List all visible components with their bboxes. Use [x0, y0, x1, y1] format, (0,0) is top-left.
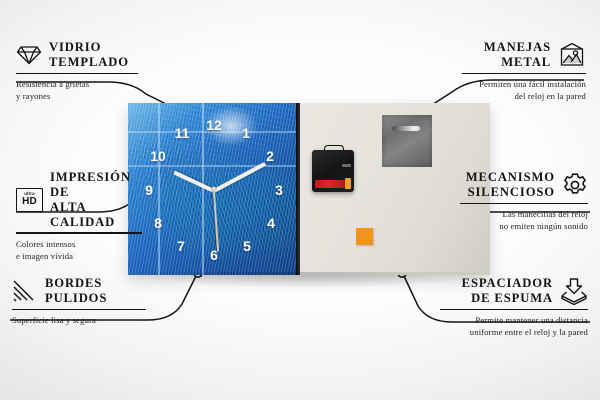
title-line-2: SILENCIOSO	[466, 185, 555, 200]
clock-number-7: 7	[177, 238, 185, 254]
title-line-2: DE ESPUMA	[462, 291, 553, 306]
feature-silent-mechanism: MECANISMO SILENCIOSO Las manecillas del …	[460, 170, 588, 232]
down-arrow-stack-icon	[560, 277, 588, 305]
feature-description: Resistencia a grietas y rayones	[16, 78, 138, 102]
desc-line-1: Resistencia a grietas	[16, 78, 138, 90]
feature-rule	[462, 73, 586, 75]
desc-line-2: uniforme entre el reloj y la pared	[440, 326, 588, 338]
feature-description: Permite mantener una distancia uniforme …	[440, 314, 588, 338]
gear-icon	[562, 172, 588, 198]
title-line-2: METAL	[484, 55, 551, 70]
feature-description: Colores intensos e imagen vívida	[16, 238, 142, 262]
feature-tempered-glass: VIDRIO TEMPLADO Resistencia a grietas y …	[16, 40, 138, 102]
desc-line-1: Las manecillas del reloj	[460, 208, 588, 220]
movement-label	[342, 164, 351, 167]
clock-front-face: 12 1 2 3 4 5 6 7 8 9 10 11	[128, 103, 300, 275]
feature-metal-handles: MANEJAS METAL Permiten una fácil instala…	[462, 40, 586, 102]
desc-line-1: Permite mantener una distancia	[440, 314, 588, 326]
clock-number-11: 11	[175, 125, 190, 141]
framed-picture-icon	[558, 42, 586, 68]
feature-header: ultra HD IMPRESIÓN DE ALTA CALIDAD	[16, 170, 142, 229]
feature-rule	[12, 309, 146, 311]
clock-number-9: 9	[145, 182, 153, 198]
feature-rule	[16, 73, 138, 75]
feature-hd-print: ultra HD IMPRESIÓN DE ALTA CALIDAD Color…	[16, 170, 142, 262]
feature-rule	[16, 232, 142, 234]
battery	[315, 180, 348, 188]
clock-number-4: 4	[267, 215, 275, 231]
diamond-icon	[16, 44, 42, 66]
feature-foam-spacer: ESPACIADOR DE ESPUMA Permite mantener un…	[440, 276, 588, 338]
desc-line-1: Superficie lisa y segura	[12, 314, 146, 326]
feature-rule	[460, 203, 588, 205]
desc-line-2: y rayones	[16, 90, 138, 102]
clock-center-hub	[212, 187, 217, 192]
feature-title: IMPRESIÓN DE ALTA CALIDAD	[50, 170, 142, 229]
feature-header: MECANISMO SILENCIOSO	[460, 170, 588, 200]
clock-number-1: 1	[242, 125, 250, 141]
grid-line-h2	[128, 165, 300, 167]
title-line-1: ESPACIADOR	[462, 276, 553, 291]
title-line-1: MECANISMO	[466, 170, 555, 185]
feature-title: MECANISMO SILENCIOSO	[466, 170, 555, 200]
grid-line-v1	[158, 103, 160, 275]
title-line-2: PULIDOS	[45, 291, 107, 306]
desc-line-2: del reloj en la pared	[462, 90, 586, 102]
desc-line-1: Colores intensos	[16, 238, 142, 250]
product-photo: 12 1 2 3 4 5 6 7 8 9 10 11	[128, 103, 490, 275]
feature-description: Superficie lisa y segura	[12, 314, 146, 326]
metal-hanger-plate-icon	[382, 115, 432, 167]
product-drop-shadow	[128, 272, 490, 288]
ultra-hd-badge-icon: ultra HD	[16, 188, 43, 212]
feature-polished-edges: BORDES PULIDOS Superficie lisa y segura	[12, 276, 146, 326]
feature-description: Permiten una fácil instalación del reloj…	[462, 78, 586, 102]
clock-number-2: 2	[266, 148, 274, 164]
desc-line-2: e imagen vívida	[16, 250, 142, 262]
infographic-canvas: 12 1 2 3 4 5 6 7 8 9 10 11	[0, 0, 600, 400]
feature-header: MANEJAS METAL	[462, 40, 586, 70]
clock-number-3: 3	[275, 182, 283, 198]
title-line-2: ALTA CALIDAD	[50, 200, 142, 230]
desc-line-1: Permiten una fácil instalación	[462, 78, 586, 90]
feature-title: VIDRIO TEMPLADO	[49, 40, 129, 70]
feature-rule	[440, 309, 588, 311]
title-line-1: VIDRIO	[49, 40, 129, 55]
feature-header: BORDES PULIDOS	[12, 276, 146, 306]
badge-big-label: HD	[22, 197, 37, 207]
feature-title: ESPACIADOR DE ESPUMA	[462, 276, 553, 306]
hanger-slot	[392, 126, 420, 131]
foam-spacer-pad	[356, 228, 373, 245]
feature-header: ESPACIADOR DE ESPUMA	[440, 276, 588, 306]
clock-number-12: 12	[206, 117, 222, 133]
feature-title: MANEJAS METAL	[484, 40, 551, 70]
clock-number-10: 10	[150, 148, 166, 164]
feature-header: VIDRIO TEMPLADO	[16, 40, 138, 70]
quartz-movement-box	[312, 150, 354, 192]
feature-title: BORDES PULIDOS	[45, 276, 107, 306]
title-line-1: IMPRESIÓN DE	[50, 170, 142, 200]
clock-number-5: 5	[243, 238, 251, 254]
diagonal-lines-icon	[12, 279, 38, 303]
movement-shaft	[324, 145, 344, 153]
desc-line-2: no emiten ningún sonido	[460, 220, 588, 232]
feature-description: Las manecillas del reloj no emiten ningú…	[460, 208, 588, 232]
clock-number-8: 8	[154, 215, 162, 231]
title-line-1: MANEJAS	[484, 40, 551, 55]
title-line-1: BORDES	[45, 276, 107, 291]
title-line-2: TEMPLADO	[49, 55, 129, 70]
